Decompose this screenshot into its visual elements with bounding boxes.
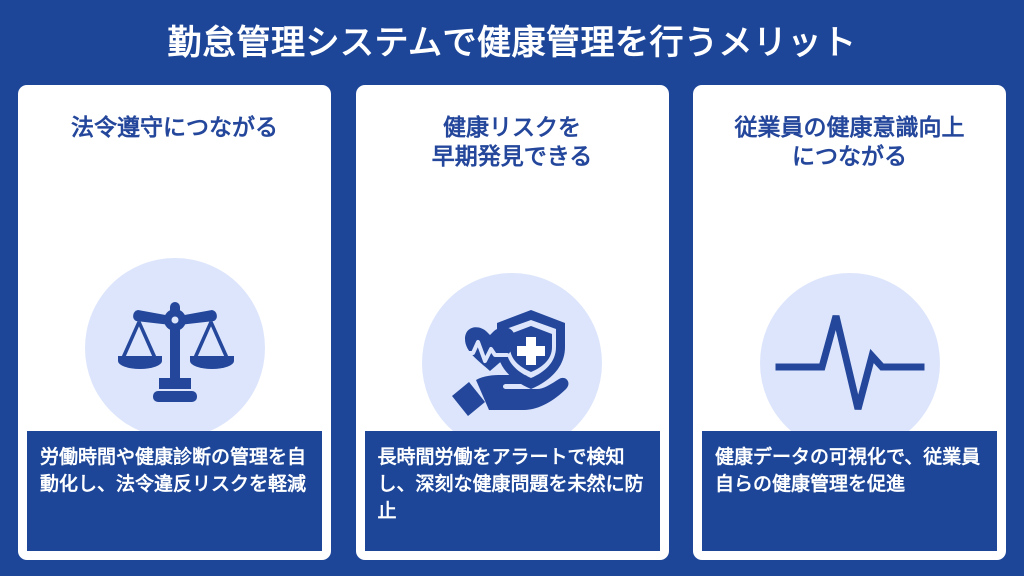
heartbeat-pulse-icon (775, 311, 925, 415)
icon-circle (422, 273, 602, 453)
benefit-card-3: 従業員の健康意識向上 につながる 健康データの可視化で、従業員自らの健康管理を促… (693, 85, 1006, 560)
icon-circle (760, 273, 940, 453)
page-title: 勤怠管理システムで健康管理を行うメリット (0, 0, 1024, 78)
benefit-cards-row: 法令遵守につながる (18, 85, 1006, 563)
benefit-card-2: 健康リスクを 早期発見できる (356, 85, 669, 560)
benefit-card-1-footer: 労働時間や健康診断の管理を自動化し、法令違反リスクを軽減 (27, 431, 322, 551)
balance-scale-icon (116, 292, 234, 404)
benefit-card-1-title: 法令遵守につながる (61, 113, 288, 142)
hand-heart-shield-icon (449, 304, 575, 422)
benefit-card-3-title: 従業員の健康意識向上 につながる (725, 113, 975, 172)
icon-circle (85, 258, 265, 438)
benefit-card-3-description: 健康データの可視化で、従業員自らの健康管理を促進 (715, 445, 984, 499)
benefit-card-2-footer: 長時間労働をアラートで検知し、深刻な健康問題を未然に防止 (365, 431, 660, 551)
benefit-card-3-footer: 健康データの可視化で、従業員自らの健康管理を促進 (702, 431, 997, 551)
benefit-card-1: 法令遵守につながる (18, 85, 331, 560)
benefit-card-2-description: 長時間労働をアラートで検知し、深刻な健康問題を未然に防止 (378, 445, 647, 526)
benefit-card-1-description: 労働時間や健康診断の管理を自動化し、法令違反リスクを軽減 (40, 445, 309, 499)
benefit-card-2-title: 健康リスクを 早期発見できる (422, 113, 603, 172)
